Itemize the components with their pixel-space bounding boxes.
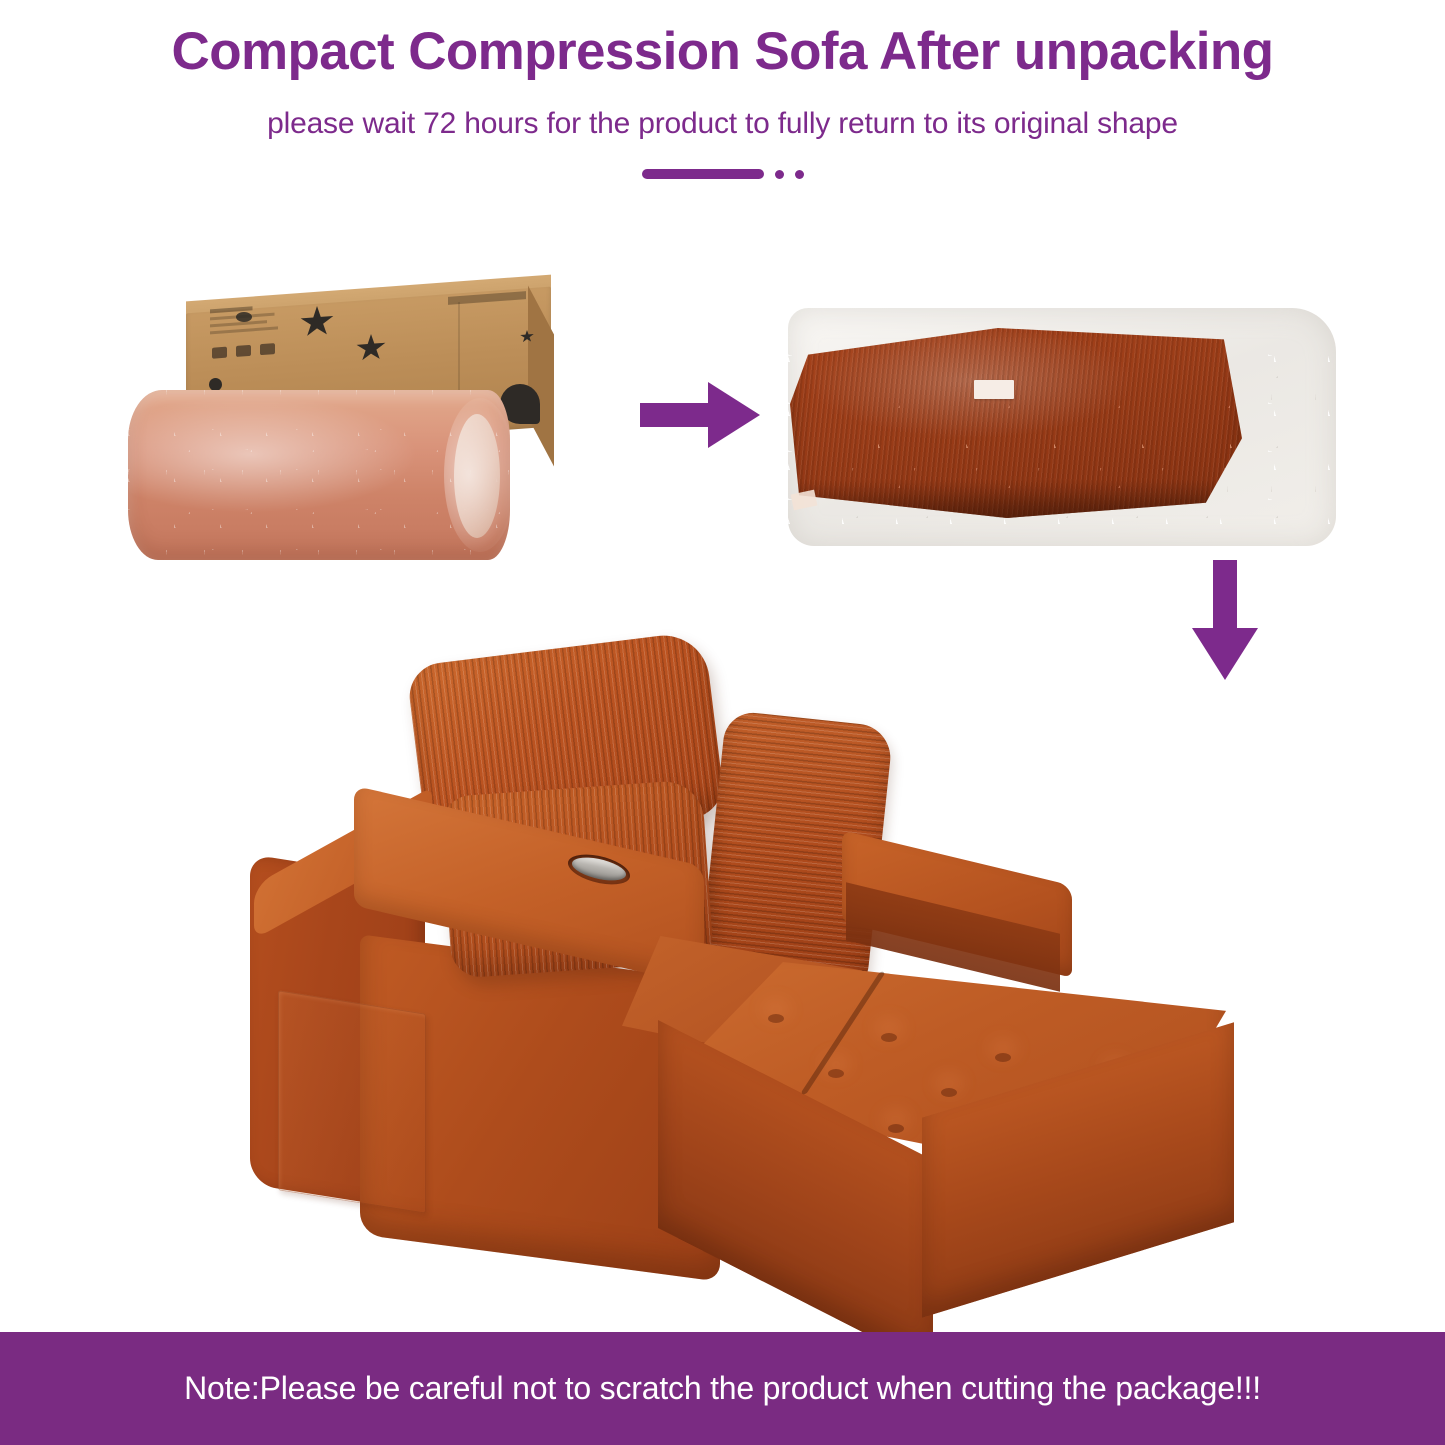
page-title: Compact Compression Sofa After unpacking <box>0 22 1445 83</box>
box-hole <box>236 312 252 322</box>
divider-bar <box>642 169 764 179</box>
footer-note-banner: Note:Please be careful not to scratch th… <box>0 1332 1445 1445</box>
side-storage-pocket <box>278 990 426 1213</box>
box-printed-text <box>210 301 302 342</box>
step-vacuum-sealed-flat-pack <box>782 302 1342 552</box>
roll-end-cap <box>454 414 500 538</box>
arrow-right-icon <box>640 382 760 448</box>
divider-dot-1 <box>775 170 784 179</box>
step-boxed-rolled-sofa <box>128 272 558 562</box>
page-subtitle: please wait 72 hours for the product to … <box>0 107 1445 141</box>
step-expanded-sofa <box>250 640 1260 1280</box>
footer-note-text: Note:Please be careful not to scratch th… <box>184 1370 1261 1407</box>
product-label <box>974 380 1014 399</box>
compressed-sofa-slab <box>790 328 1242 518</box>
rolled-sofa-package <box>128 390 510 560</box>
divider-dot-2 <box>795 170 804 179</box>
header: Compact Compression Sofa After unpacking… <box>0 0 1445 200</box>
header-divider <box>0 163 1445 185</box>
